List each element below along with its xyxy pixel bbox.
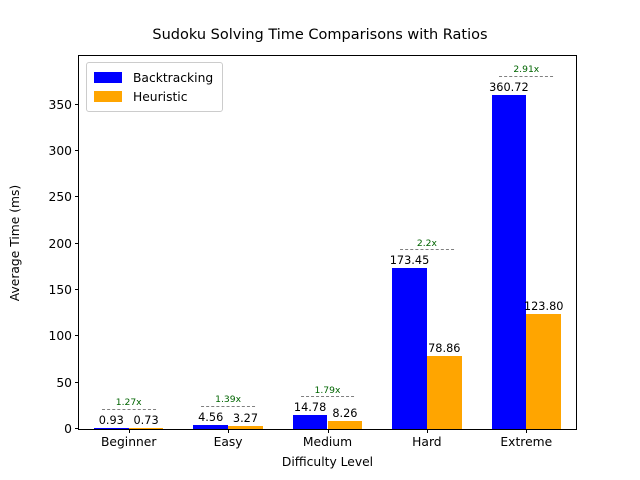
ratio-label: 1.39x	[201, 395, 255, 405]
y-tick-mark	[75, 150, 79, 151]
y-tick-mark	[75, 335, 79, 336]
ratio-connector-line	[201, 406, 255, 407]
y-tick-mark	[75, 382, 79, 383]
ratio-annotation: 2.2x	[400, 239, 454, 251]
ratio-connector-line	[499, 76, 553, 77]
y-tick-mark	[75, 243, 79, 244]
x-tick-mark	[526, 429, 527, 433]
chart-legend: BacktrackingHeuristic	[86, 62, 223, 112]
ratio-connector-line	[400, 249, 454, 250]
x-tick-label: Beginner	[101, 435, 156, 449]
x-axis-label: Difficulty Level	[282, 455, 373, 469]
chart-title: Sudoku Solving Time Comparisons with Rat…	[0, 27, 640, 43]
bar-backtracking-extreme[interactable]: 360.72	[492, 95, 527, 429]
plot-area: Average Time (ms) 050100150200250300350 …	[78, 55, 577, 430]
x-tick-label: Extreme	[500, 435, 552, 449]
legend-swatch-icon	[94, 72, 122, 83]
bar-value-label: 123.80	[524, 300, 564, 313]
x-tick-label: Medium	[303, 435, 352, 449]
ratio-annotation: 2.91x	[499, 65, 553, 77]
ratio-annotation: 1.27x	[102, 398, 156, 410]
bar-backtracking-medium[interactable]: 14.78	[293, 415, 328, 429]
bar-value-label: 78.86	[428, 342, 460, 355]
ratio-annotation: 1.39x	[201, 395, 255, 407]
bar-value-label: 8.26	[332, 407, 357, 420]
ratio-connector-line	[102, 409, 156, 410]
bar-heuristic-beginner[interactable]: 0.73	[129, 428, 164, 429]
ratio-connector-line	[301, 396, 355, 397]
bar-value-label: 173.45	[390, 254, 430, 267]
bar-heuristic-easy[interactable]: 3.27	[228, 426, 263, 429]
x-tick-mark	[129, 429, 130, 433]
bar-backtracking-beginner[interactable]: 0.93	[94, 428, 129, 429]
legend-swatch-icon	[94, 91, 122, 102]
chart-figure: Sudoku Solving Time Comparisons with Rat…	[0, 0, 640, 480]
ratio-annotation: 1.79x	[301, 386, 355, 398]
x-tick-label: Hard	[412, 435, 441, 449]
ratio-label: 2.91x	[499, 65, 553, 75]
bar-value-label: 14.78	[294, 401, 326, 414]
x-tick-mark	[228, 429, 229, 433]
legend-item-label: Heuristic	[133, 90, 187, 104]
legend-item-label: Backtracking	[133, 71, 213, 85]
legend-item-backtracking[interactable]: Backtracking	[94, 68, 213, 87]
ratio-label: 2.2x	[400, 239, 454, 249]
y-axis-label: Average Time (ms)	[8, 184, 22, 300]
bar-value-label: 4.56	[198, 411, 223, 424]
bar-value-label: 360.72	[489, 81, 529, 94]
x-tick-mark	[427, 429, 428, 433]
bar-value-label: 0.73	[134, 414, 159, 427]
x-tick-label: Easy	[214, 435, 243, 449]
bar-heuristic-extreme[interactable]: 123.80	[526, 314, 561, 429]
ratio-label: 1.79x	[301, 386, 355, 396]
y-tick-mark	[75, 196, 79, 197]
y-tick-mark	[75, 289, 79, 290]
legend-item-heuristic[interactable]: Heuristic	[94, 87, 213, 106]
y-tick-mark	[75, 428, 79, 429]
y-tick-mark	[75, 104, 79, 105]
bar-backtracking-easy[interactable]: 4.56	[193, 425, 228, 429]
x-tick-mark	[328, 429, 329, 433]
bar-heuristic-medium[interactable]: 8.26	[328, 421, 363, 429]
bar-value-label: 3.27	[233, 412, 258, 425]
ratio-label: 1.27x	[102, 398, 156, 408]
bar-heuristic-hard[interactable]: 78.86	[427, 356, 462, 429]
bar-value-label: 0.93	[99, 414, 124, 427]
bar-backtracking-hard[interactable]: 173.45	[392, 268, 427, 429]
